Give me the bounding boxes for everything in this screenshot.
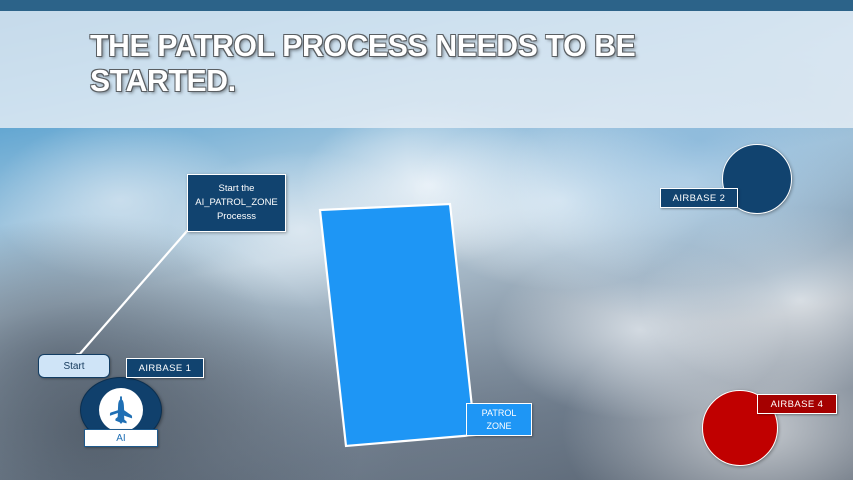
slide-canvas: THE PATROL PROCESS NEEDS TO BE STARTED. … [0, 0, 853, 480]
patrol-zone-label-line-1: PATROL [482, 407, 517, 419]
airbase-2-label[interactable]: AIRBASE 2 [660, 188, 738, 208]
fighter-jet-icon [99, 388, 143, 432]
process-callout-label: Start the AI_PATROL_ZONE Processs [188, 182, 285, 223]
patrol-zone-label[interactable]: PATROL ZONE [466, 403, 532, 436]
start-button-label: Start [63, 361, 84, 372]
process-callout-box[interactable]: Start the AI_PATROL_ZONE Processs [187, 174, 286, 232]
airbase-1-label[interactable]: AIRBASE 1 [126, 358, 204, 378]
airbase-4-label[interactable]: AIRBASE 4 [757, 394, 837, 414]
diagram-layer: Start the AI_PATROL_ZONE Processs Start … [0, 0, 853, 480]
start-button[interactable]: Start [38, 354, 110, 378]
patrol-zone-label-line-2: ZONE [482, 420, 517, 432]
ai-node-label: AI [84, 429, 158, 447]
